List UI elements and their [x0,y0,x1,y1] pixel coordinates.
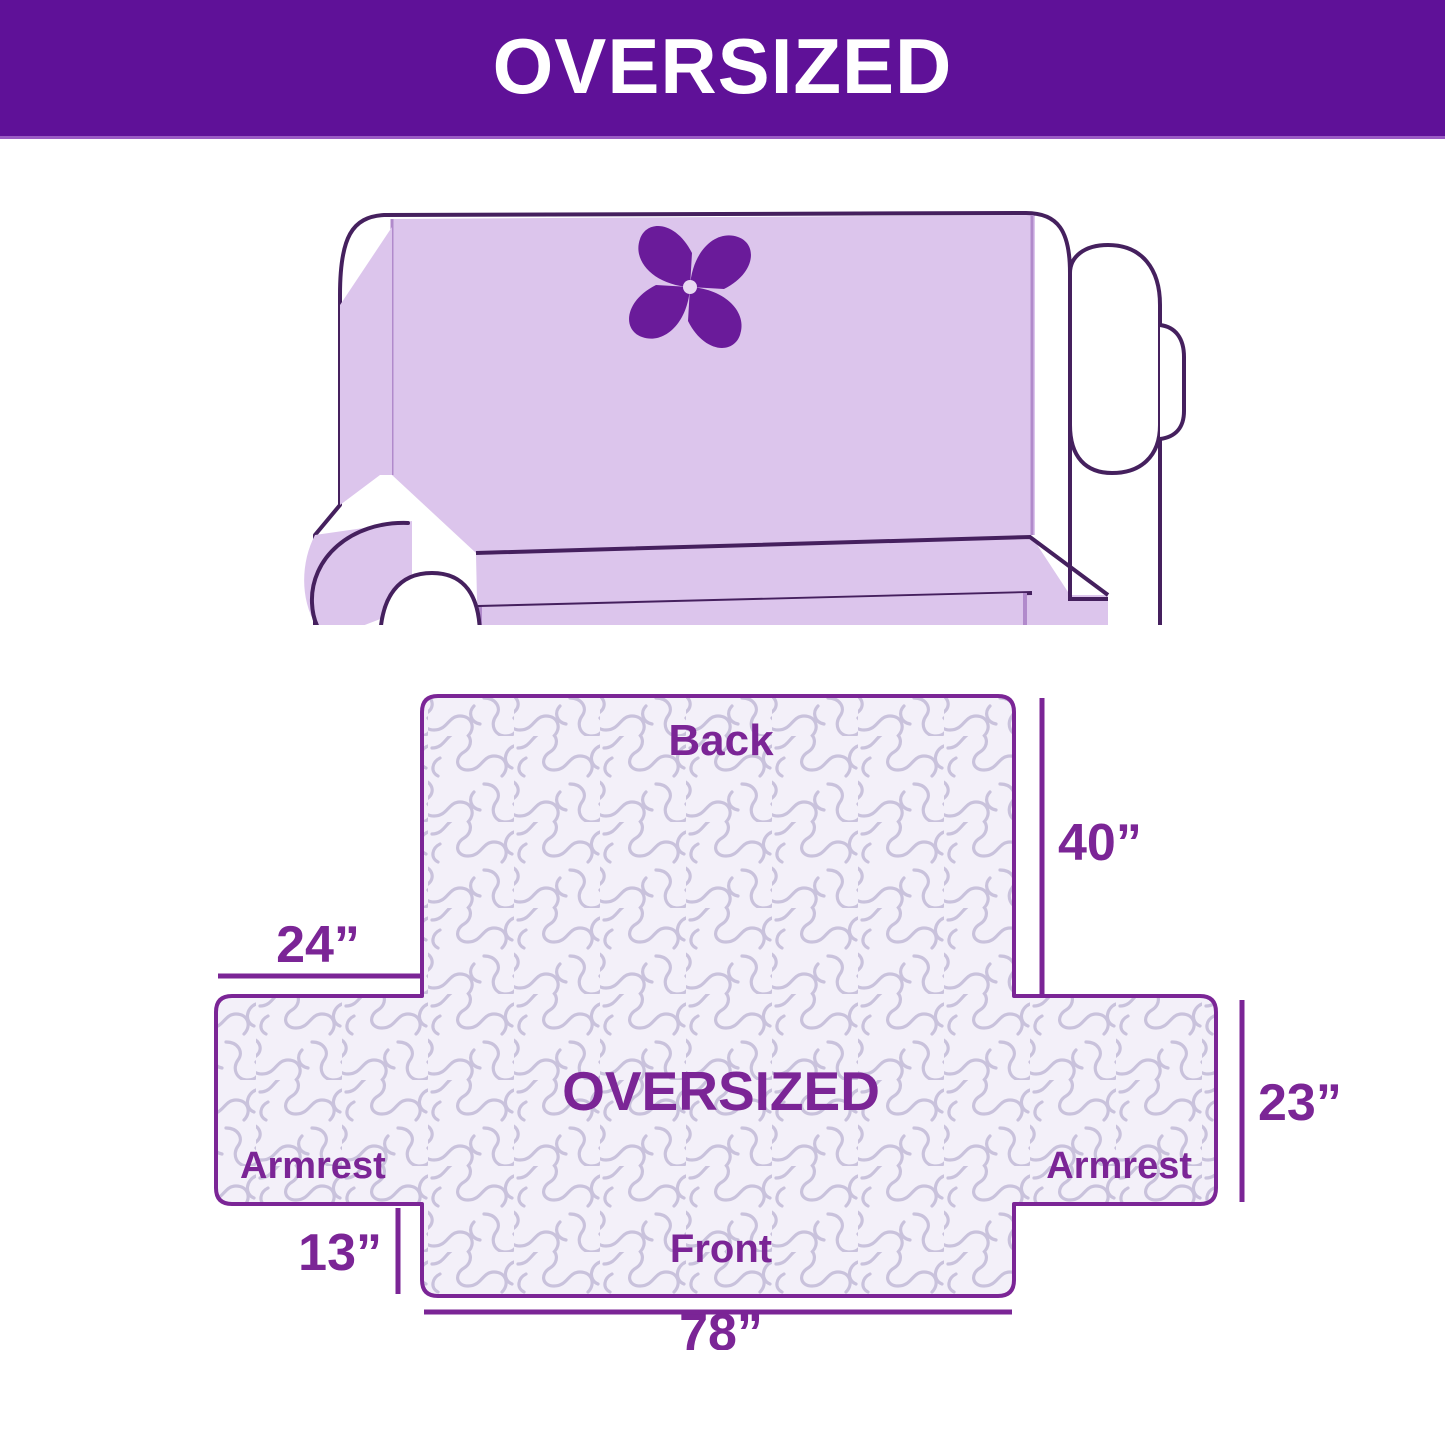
panel-label-front: Front [670,1227,772,1271]
panel-label-armrest-left: Armrest [240,1145,386,1187]
panel-label-back: Back [668,716,774,765]
page-title: OVERSIZED [493,27,953,105]
sofa-right-arm-roll [1070,245,1160,473]
header-banner: OVERSIZED [0,0,1445,136]
dimension-label-back-height: 40” [1058,814,1142,872]
flat-cover-layout-diagram: Back OVERSIZED Armrest Armrest Front 40”… [170,650,1350,1350]
dimension-label-front-width: 78” [679,1304,763,1350]
dimension-label-armrest-height: 23” [1258,1074,1342,1132]
cover-shape [216,696,1216,1296]
sofa-left-arm-top-fill [340,227,392,505]
dimension-label-front-offset: 13” [298,1224,382,1282]
panel-label-armrest-right: Armrest [1046,1145,1192,1187]
sofa-illustration [280,175,1190,625]
banner-underline [0,136,1445,139]
sofa-right-arm-outer [1160,325,1184,439]
center-label-oversized: OVERSIZED [562,1060,880,1122]
dimension-label-back-top-offset: 24” [276,916,360,974]
